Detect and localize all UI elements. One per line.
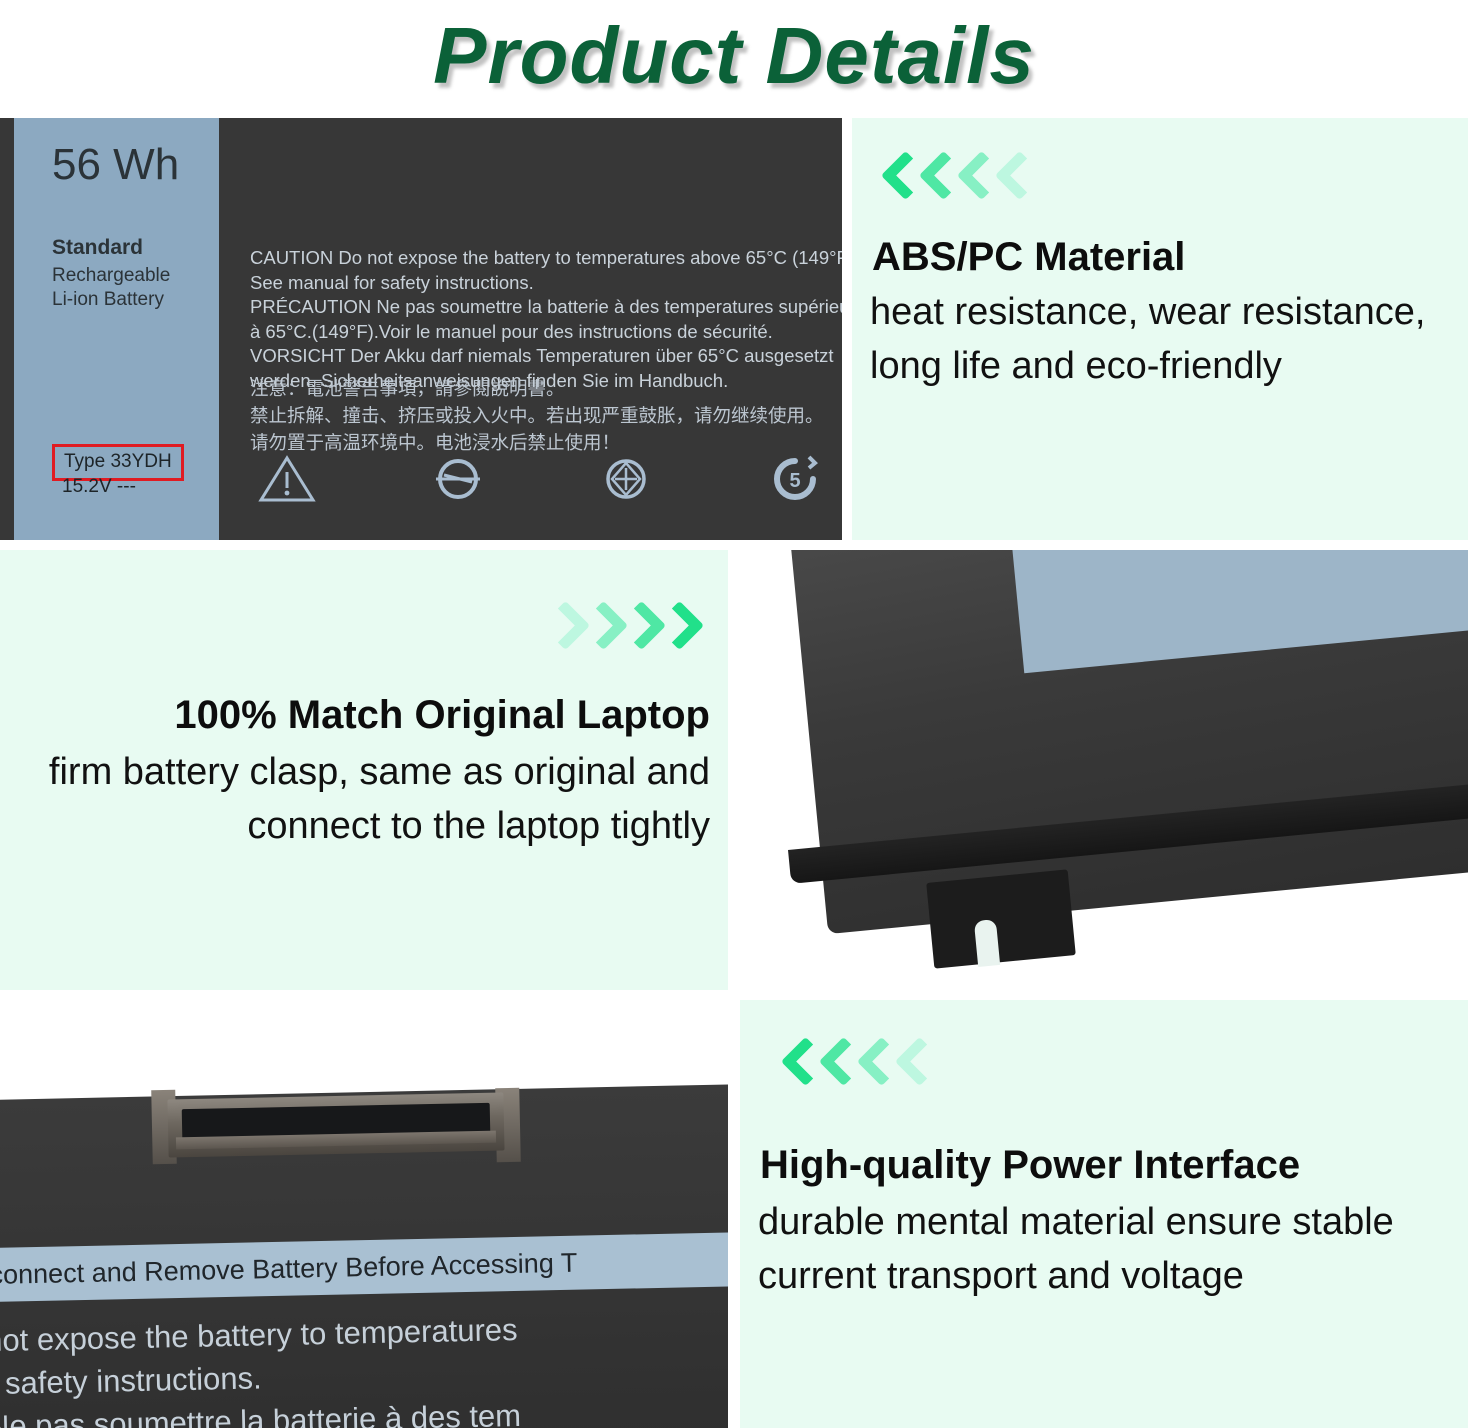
feature-title: ABS/PC Material — [872, 234, 1185, 280]
battery-connector-photo: sconnect and Remove Battery Before Acces… — [0, 1000, 728, 1428]
chevron-left-group — [884, 152, 1032, 204]
chevron-right-icon — [658, 602, 692, 654]
feature-match-original-laptop: 100% Match Original Laptop firm battery … — [0, 550, 728, 990]
chevron-left-icon — [784, 1038, 818, 1090]
feature-body: firm battery clasp, same as original and… — [10, 746, 710, 854]
chevron-right-icon — [582, 602, 616, 654]
chevron-left-icon — [922, 152, 956, 204]
connector-warning-band-text: sconnect and Remove Battery Before Acces… — [0, 1247, 578, 1291]
recycle-5-years-icon: 5 — [768, 454, 822, 509]
connector-caution-text: not expose the battery to temperatures r… — [0, 1304, 728, 1428]
feature-body: heat resistance, wear resistance, long l… — [870, 286, 1454, 394]
page-title: Product Details — [433, 10, 1035, 102]
chevron-left-group — [784, 1038, 932, 1090]
battery-capacity: 56 Wh — [52, 140, 179, 190]
battery-clasp-tab — [926, 869, 1076, 968]
feature-high-quality-power-interface: High-quality Power Interface durable men… — [740, 1000, 1468, 1428]
chevron-left-icon — [898, 1038, 932, 1090]
product-details-infographic: Product Details 56 Wh Standard Rechargea… — [0, 0, 1468, 1428]
chevron-left-icon — [884, 152, 918, 204]
chevron-right-group — [544, 602, 692, 654]
battery-safety-icon-row: 5 — [258, 454, 822, 509]
warning-triangle-icon — [258, 454, 316, 509]
battery-voltage: 15.2V --- — [62, 476, 136, 498]
svg-text:5: 5 — [789, 470, 800, 492]
no-disassemble-icon — [432, 454, 484, 509]
header: Product Details — [0, 0, 1468, 112]
feature-title: High-quality Power Interface — [760, 1142, 1300, 1188]
chevron-left-icon — [998, 152, 1032, 204]
battery-label-photo: 56 Wh Standard Rechargeable Li-ion Batte… — [0, 118, 842, 540]
battery-corner-photo: 15.2V — [740, 550, 1468, 990]
feature-abs-pc-material: ABS/PC Material heat resistance, wear re… — [852, 118, 1468, 540]
battery-chemistry-label: Rechargeable Li-ion Battery — [52, 264, 170, 312]
feature-body: durable mental material ensure stable cu… — [758, 1196, 1448, 1304]
chevron-right-icon — [620, 602, 654, 654]
chevron-left-icon — [860, 1038, 894, 1090]
chevron-left-icon — [822, 1038, 856, 1090]
battery-caution-text-chinese: 注意：電池警告事項，請參閱說明書。 禁止拆解、撞击、挤压或投入火中。若出现严重鼓… — [250, 376, 842, 456]
battery-label-blue-panel: 56 Wh Standard Rechargeable Li-ion Batte… — [14, 118, 219, 540]
feature-title: 100% Match Original Laptop — [174, 692, 710, 738]
battery-clasp-notch — [974, 919, 1000, 967]
battery-caution-text: CAUTION Do not expose the battery to tem… — [250, 246, 842, 394]
chevron-right-icon — [544, 602, 578, 654]
do-not-crush-icon — [600, 454, 652, 509]
battery-standard-label: Standard — [52, 236, 143, 260]
chevron-left-icon — [960, 152, 994, 204]
